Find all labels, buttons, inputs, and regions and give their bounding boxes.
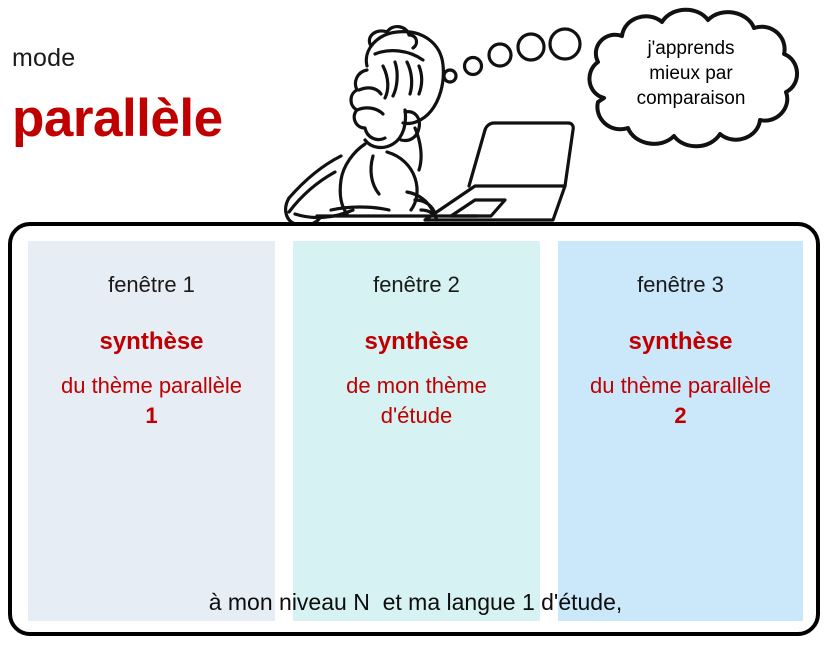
synthesis-heading-2: synthèse [293, 327, 540, 357]
synthesis-desc-number-2: d'étude [293, 401, 540, 431]
slide-root: mode parallèle [0, 0, 829, 646]
window-label-3: fenêtre 3 [558, 271, 803, 299]
synthesis-heading-3: synthèse [558, 327, 803, 357]
mode-title: parallèle [12, 88, 223, 149]
synthesis-desc-number-1: 1 [28, 401, 275, 431]
window-label-1: fenêtre 1 [28, 271, 275, 299]
synthesis-desc-text-1: du thème parallèle [61, 373, 242, 398]
window-label-2: fenêtre 2 [293, 271, 540, 299]
mode-label: mode [12, 44, 75, 73]
synthesis-desc-3: du thème parallèle 2 [558, 371, 803, 431]
thought-cloud-text: j'apprends mieux par comparaison [596, 36, 786, 111]
cloud-line-1: j'apprends [596, 36, 786, 61]
cloud-line-2: mieux par [596, 61, 786, 86]
synthesis-desc-number-3: 2 [558, 401, 803, 431]
synthesis-heading-1: synthèse [28, 327, 275, 357]
footer-line-1: à mon niveau N et ma langue 1 d'étude, [28, 580, 803, 624]
synthesis-desc-text-2: de mon thème [346, 373, 487, 398]
synthesis-desc-text-3: du thème parallèle [590, 373, 771, 398]
synthesis-desc-1: du thème parallèle 1 [28, 371, 275, 431]
panel-footer-note: à mon niveau N et ma langue 1 d'étude, p… [28, 492, 803, 646]
cloud-line-3: comparaison [596, 86, 786, 111]
synthesis-desc-2: de mon thème d'étude [293, 371, 540, 431]
